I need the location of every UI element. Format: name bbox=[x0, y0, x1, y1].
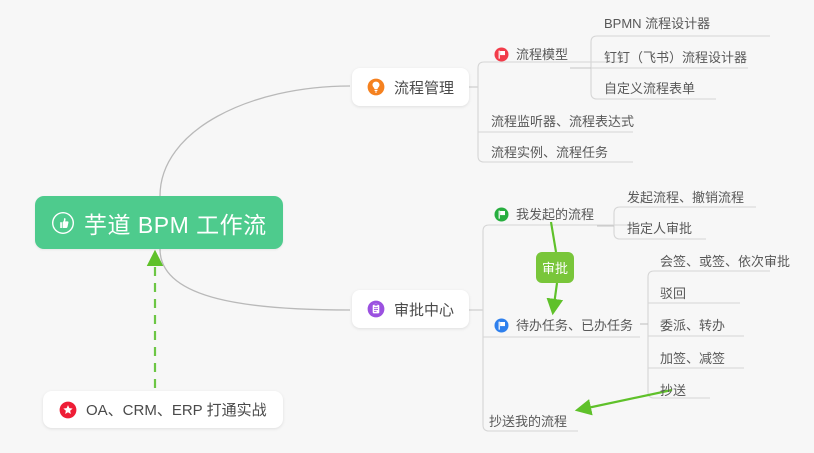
leaf-label: 抄送 bbox=[660, 384, 686, 397]
approval-tag-label: 审批 bbox=[542, 258, 568, 277]
leaf-label: 发起流程、撤销流程 bbox=[627, 191, 744, 204]
root-node[interactable]: 芋道 BPM 工作流 bbox=[35, 196, 283, 249]
leaf-instance-task[interactable]: 流程实例、流程任务 bbox=[491, 141, 608, 163]
leaf-countersign[interactable]: 会签、或签、依次审批 bbox=[660, 250, 790, 272]
leaf-bpmn-designer[interactable]: BPMN 流程设计器 bbox=[604, 12, 710, 34]
flag-green-icon bbox=[494, 207, 509, 222]
leaf-label: 待办任务、已办任务 bbox=[516, 319, 633, 332]
leaf-initiate-cancel[interactable]: 发起流程、撤销流程 bbox=[627, 186, 744, 208]
leaf-add-remove-sign[interactable]: 加签、减签 bbox=[660, 347, 725, 369]
leaf-label: 自定义流程表单 bbox=[604, 82, 695, 95]
flag-blue-icon bbox=[494, 318, 509, 333]
leaf-listener-expression[interactable]: 流程监听器、流程表达式 bbox=[491, 110, 634, 132]
leaf-label: 会签、或签、依次审批 bbox=[660, 255, 790, 268]
leaf-label: 指定人审批 bbox=[627, 222, 692, 235]
leaf-cc-to-me[interactable]: 抄送我的流程 bbox=[489, 410, 567, 432]
root-label: 芋道 BPM 工作流 bbox=[84, 206, 267, 240]
leaf-label: 流程模型 bbox=[516, 48, 568, 61]
note-label: OA、CRM、ERP 打通实战 bbox=[86, 399, 267, 420]
mindmap-canvas: 芋道 BPM 工作流 流程管理 审批中心 bbox=[0, 0, 814, 453]
leaf-label: 委派、转办 bbox=[660, 319, 725, 332]
leaf-label: 钉钉（飞书）流程设计器 bbox=[604, 51, 747, 64]
leaf-process-model[interactable]: 流程模型 bbox=[494, 43, 568, 65]
leaf-label: 流程监听器、流程表达式 bbox=[491, 115, 634, 128]
thumbs-up-icon bbox=[51, 211, 75, 235]
branch-node-process-management[interactable]: 流程管理 bbox=[352, 68, 469, 106]
leaf-custom-form[interactable]: 自定义流程表单 bbox=[604, 77, 695, 99]
lightbulb-icon bbox=[367, 78, 385, 96]
branch-label-process-management: 流程管理 bbox=[394, 77, 454, 98]
branch-node-approval-center[interactable]: 审批中心 bbox=[352, 290, 469, 328]
leaf-cc[interactable]: 抄送 bbox=[660, 379, 686, 401]
flag-red-icon bbox=[494, 47, 509, 62]
leaf-delegate-transfer[interactable]: 委派、转办 bbox=[660, 314, 725, 336]
branch-label-approval-center: 审批中心 bbox=[394, 299, 454, 320]
leaf-label: 我发起的流程 bbox=[516, 208, 594, 221]
leaf-designated-approver[interactable]: 指定人审批 bbox=[627, 217, 692, 239]
leaf-todo-done-tasks[interactable]: 待办任务、已办任务 bbox=[494, 314, 633, 336]
star-icon bbox=[59, 401, 77, 419]
leaf-label: 抄送我的流程 bbox=[489, 415, 567, 428]
leaf-dingtalk-designer[interactable]: 钉钉（飞书）流程设计器 bbox=[604, 46, 747, 68]
note-node-integration[interactable]: OA、CRM、ERP 打通实战 bbox=[43, 391, 283, 428]
approval-tag[interactable]: 审批 bbox=[536, 252, 574, 283]
clipboard-icon bbox=[367, 300, 385, 318]
leaf-label: 流程实例、流程任务 bbox=[491, 146, 608, 159]
leaf-reject[interactable]: 驳回 bbox=[660, 282, 686, 304]
leaf-label: 加签、减签 bbox=[660, 352, 725, 365]
leaf-label: BPMN 流程设计器 bbox=[604, 17, 710, 30]
leaf-my-initiated[interactable]: 我发起的流程 bbox=[494, 203, 594, 225]
leaf-label: 驳回 bbox=[660, 287, 686, 300]
